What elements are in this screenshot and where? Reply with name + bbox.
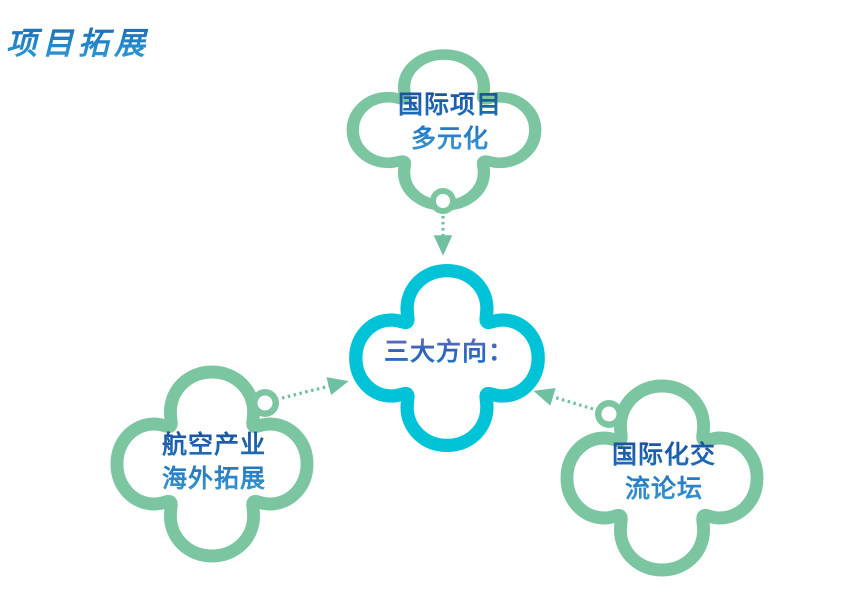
arrow-left-to-center [282, 382, 345, 398]
center-node[interactable] [356, 271, 538, 446]
diagram-canvas [0, 0, 848, 600]
node-bottom-left[interactable] [117, 372, 307, 556]
center-node-shape [356, 271, 538, 446]
node-bottom-right[interactable] [567, 386, 757, 570]
arrow-right-to-center [537, 392, 593, 409]
node-top[interactable] [353, 55, 535, 214]
node-top-shape [353, 55, 535, 206]
node-bottom-left-connector-hole [258, 396, 273, 411]
node-bottom-right-connector-hole [602, 407, 617, 422]
node-top-connector-hole [436, 194, 450, 208]
